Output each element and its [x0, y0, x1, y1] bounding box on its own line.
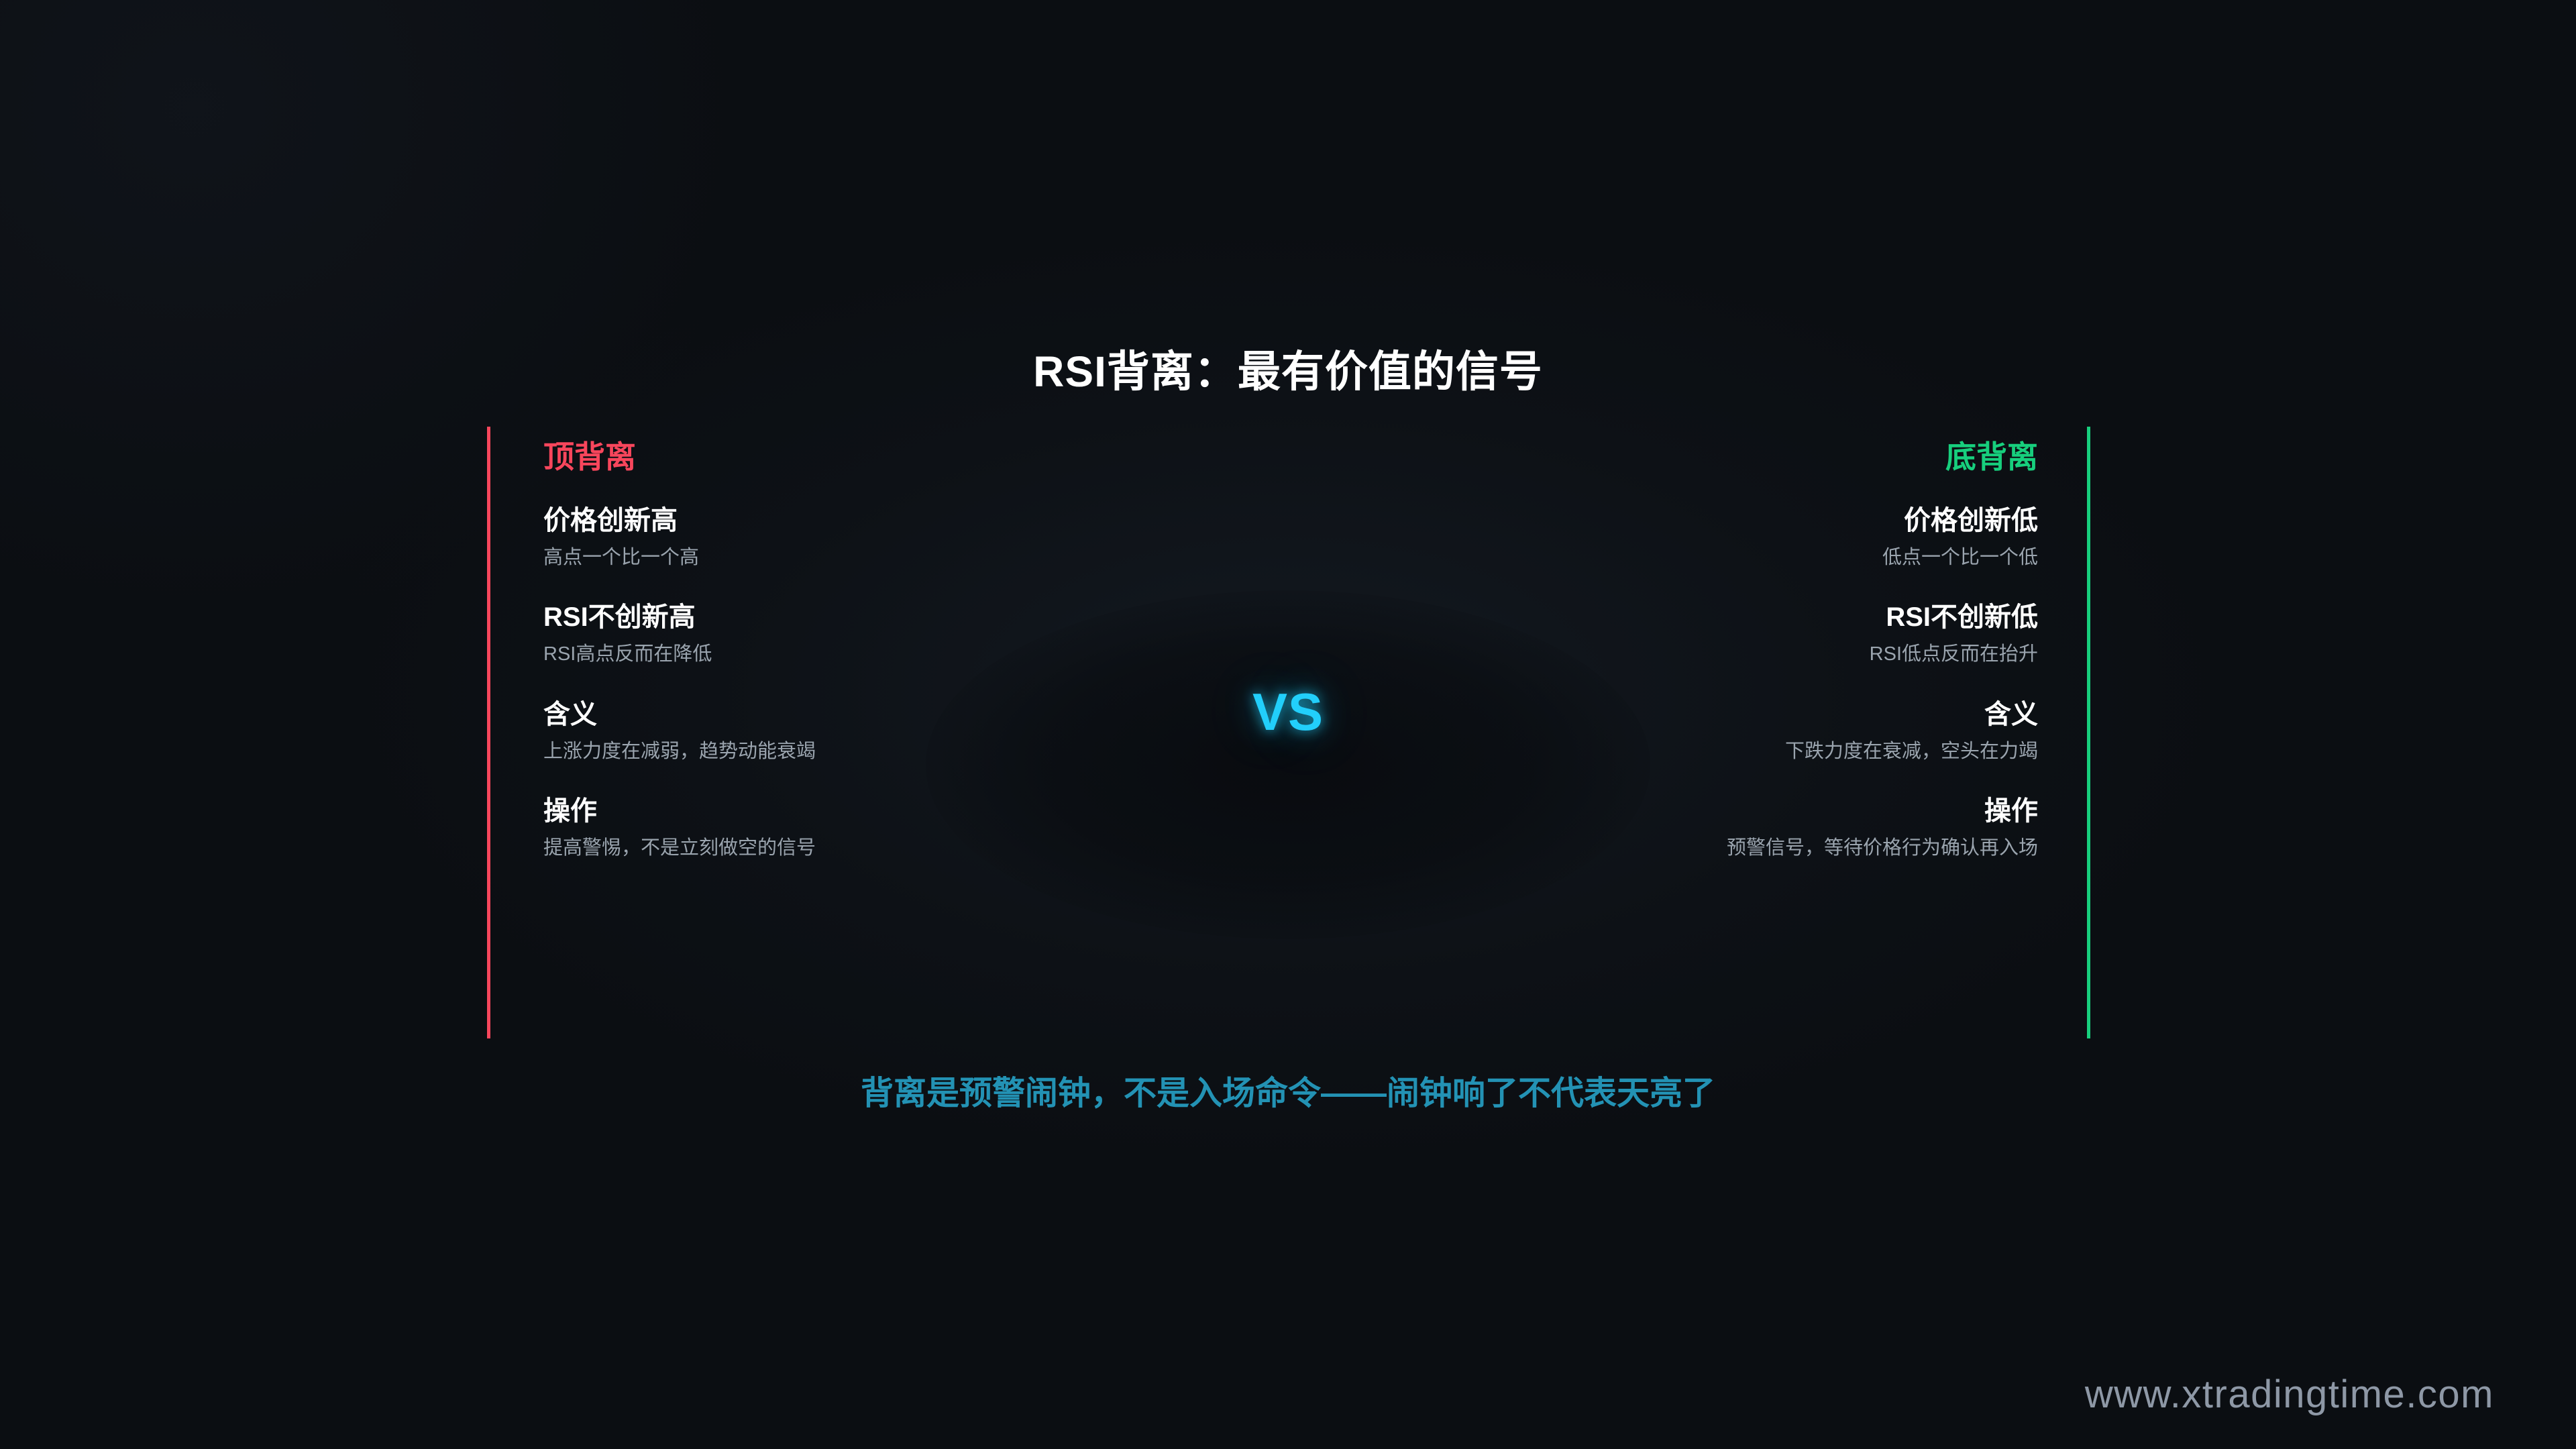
- bearish-row-rsi-label: RSI不创新高: [543, 602, 1254, 632]
- bearish-row-rsi-desc: RSI高点反而在降低: [543, 643, 1254, 665]
- column-bullish-divergence: 底背离 价格创新低 低点一个比一个低 RSI不创新低 RSI低点反而在抬升 含义…: [1327, 427, 2038, 859]
- bearish-row-price-label: 价格创新高: [543, 506, 1254, 535]
- bearish-row-action-label: 操作: [543, 796, 1254, 826]
- bullish-row-price-label: 价格创新低: [1327, 506, 2038, 535]
- bullish-row-price-desc: 低点一个比一个低: [1327, 547, 2038, 569]
- bearish-row-meaning-desc: 上涨力度在减弱，趋势动能衰竭: [543, 741, 1254, 763]
- vs-badge: VS: [0, 686, 2576, 738]
- bullish-row-rsi: RSI不创新低 RSI低点反而在抬升: [1327, 602, 2038, 665]
- bearish-row-rsi: RSI不创新高 RSI高点反而在降低: [543, 602, 1254, 665]
- conclusion-text: 背离是预警闹钟，不是入场命令——闹钟响了不代表天亮了: [0, 1076, 2576, 1112]
- site-watermark: www.xtradingtime.com: [2085, 1375, 2494, 1414]
- bearish-column-header: 顶背离: [543, 441, 1254, 472]
- bullish-row-meaning-desc: 下跌力度在衰减，空头在力竭: [1327, 741, 2038, 763]
- bullish-row-rsi-label: RSI不创新低: [1327, 602, 2038, 632]
- bearish-row-action: 操作 提高警惕，不是立刻做空的信号: [543, 796, 1254, 859]
- bearish-row-action-desc: 提高警惕，不是立刻做空的信号: [543, 837, 1254, 859]
- column-bearish-divergence: 顶背离 价格创新高 高点一个比一个高 RSI不创新高 RSI高点反而在降低 含义…: [543, 427, 1254, 859]
- bullish-row-rsi-desc: RSI低点反而在抬升: [1327, 643, 2038, 665]
- bullish-row-action: 操作 预警信号，等待价格行为确认再入场: [1327, 796, 2038, 859]
- bullish-row-action-desc: 预警信号，等待价格行为确认再入场: [1327, 837, 2038, 859]
- page-title: RSI背离：最有价值的信号: [0, 350, 2576, 394]
- bullish-row-action-label: 操作: [1327, 796, 2038, 826]
- slide-canvas: RSI背离：最有价值的信号 顶背离 价格创新高 高点一个比一个高 RSI不创新高…: [0, 0, 2576, 1449]
- bullish-row-price: 价格创新低 低点一个比一个低: [1327, 506, 2038, 569]
- bearish-row-price: 价格创新高 高点一个比一个高: [543, 506, 1254, 569]
- bullish-column-header: 底背离: [1327, 441, 2038, 472]
- bearish-row-price-desc: 高点一个比一个高: [543, 547, 1254, 569]
